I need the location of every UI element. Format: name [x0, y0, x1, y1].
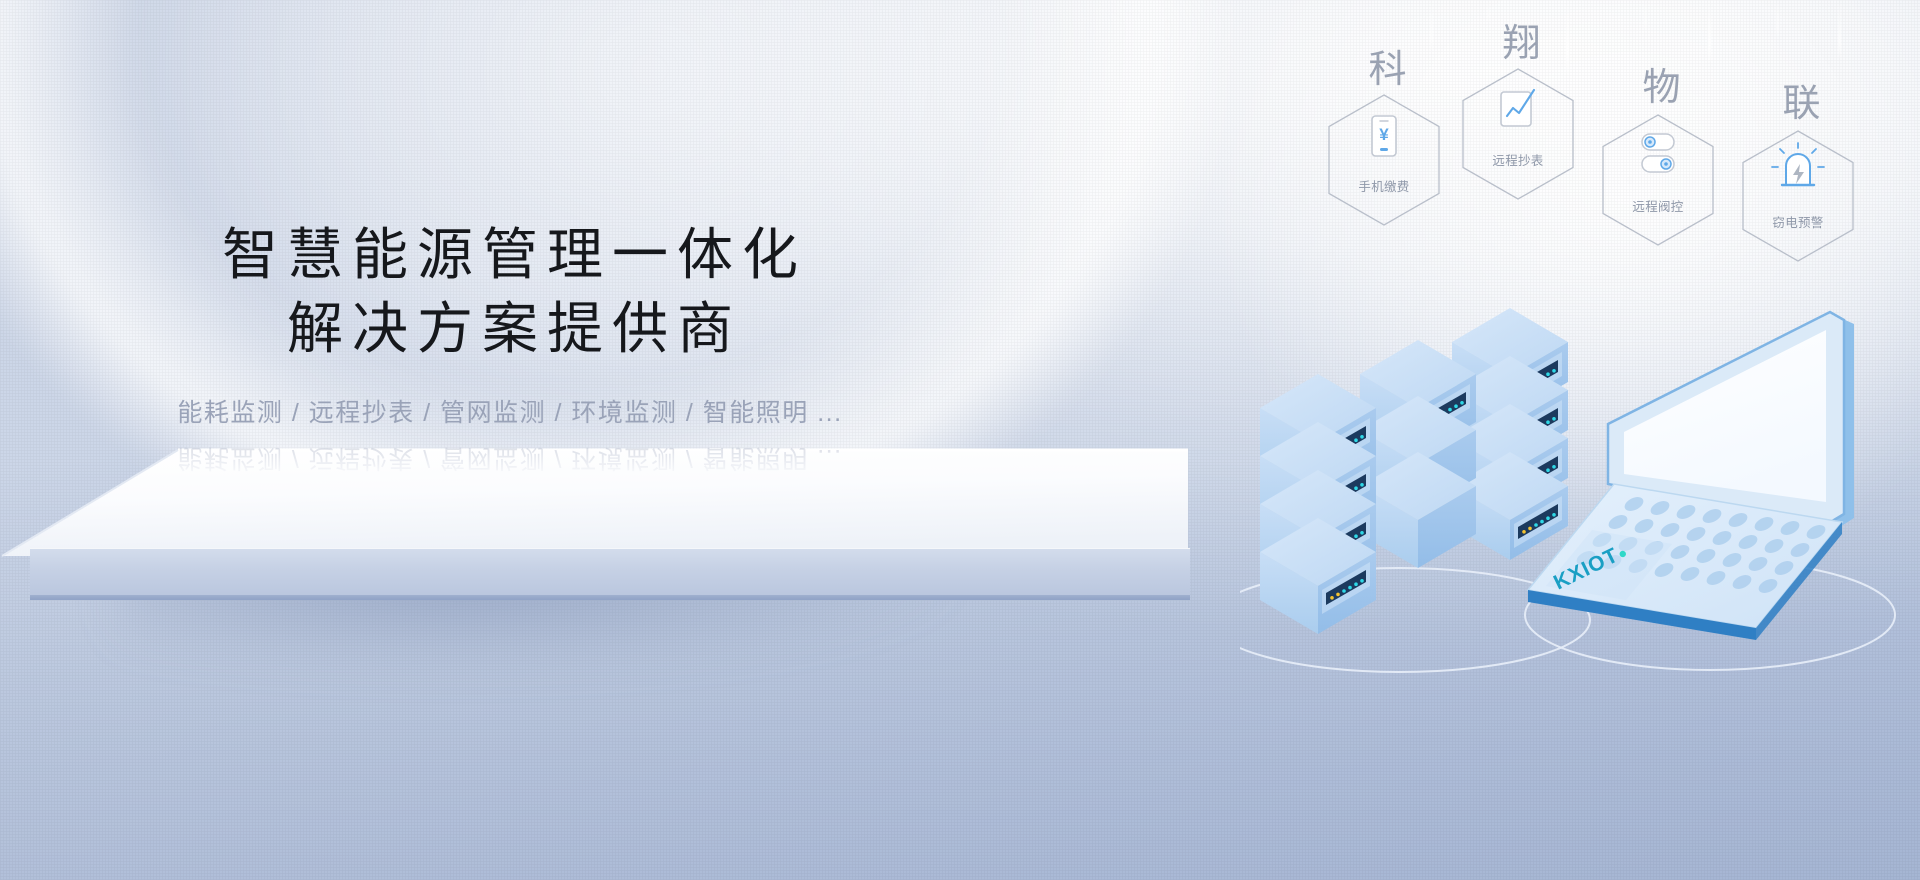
- headline-line-2: 解决方案提供商: [0, 292, 1020, 366]
- brand-char-3: 物: [1632, 56, 1692, 111]
- brand-char-4: 联: [1772, 72, 1832, 127]
- headline-line-1: 智慧能源管理一体化: [222, 223, 807, 286]
- feature-hexagon-group: 科 ¥ 手机缴费 翔 远程抄表 物: [1290, 0, 1920, 260]
- remote-valve-control-icon: [1628, 126, 1688, 184]
- laptop: KXIOT: [1528, 312, 1854, 640]
- feature-label-1: 手机缴费: [1334, 176, 1434, 195]
- hero-copy: 智慧能源管理一体化 解决方案提供商 能耗监测 / 远程抄表 / 管网监测 / 环…: [0, 218, 1020, 429]
- server-rack-left: [1260, 374, 1376, 634]
- feature-label-2: 远程抄表: [1468, 150, 1568, 169]
- mobile-payment-icon: ¥: [1356, 110, 1412, 166]
- svg-text:¥: ¥: [1379, 125, 1389, 144]
- brand-char-2: 翔: [1492, 12, 1552, 67]
- power-theft-alarm-icon: [1766, 142, 1830, 200]
- hero-tagline: 能耗监测 / 远程抄表 / 管网监测 / 环境监测 / 智能照明 ...: [0, 393, 1020, 429]
- hardware-illustration: KXIOT: [1240, 290, 1920, 710]
- platform-front-face: [30, 548, 1190, 598]
- isometric-scene: KXIOT: [1240, 290, 1920, 710]
- server-rack-middle: [1360, 340, 1476, 568]
- feature-label-4: 窃电预警: [1748, 212, 1848, 231]
- platform-top-surface: [0, 448, 1190, 560]
- brand-char-1: 科: [1358, 38, 1418, 93]
- page-title: 智慧能源管理一体化 解决方案提供商: [0, 218, 1020, 367]
- remote-meter-reading-icon: [1488, 82, 1548, 140]
- display-platform: 能耗监测 / 远程抄表 / 管网监测 / 环境监测 / 智能照明 ...: [0, 448, 1220, 648]
- hero-banner: 智慧能源管理一体化 解决方案提供商 能耗监测 / 远程抄表 / 管网监测 / 环…: [0, 0, 1920, 880]
- platform-bottom-edge: [30, 595, 1190, 600]
- feature-label-3: 远程阀控: [1608, 196, 1708, 215]
